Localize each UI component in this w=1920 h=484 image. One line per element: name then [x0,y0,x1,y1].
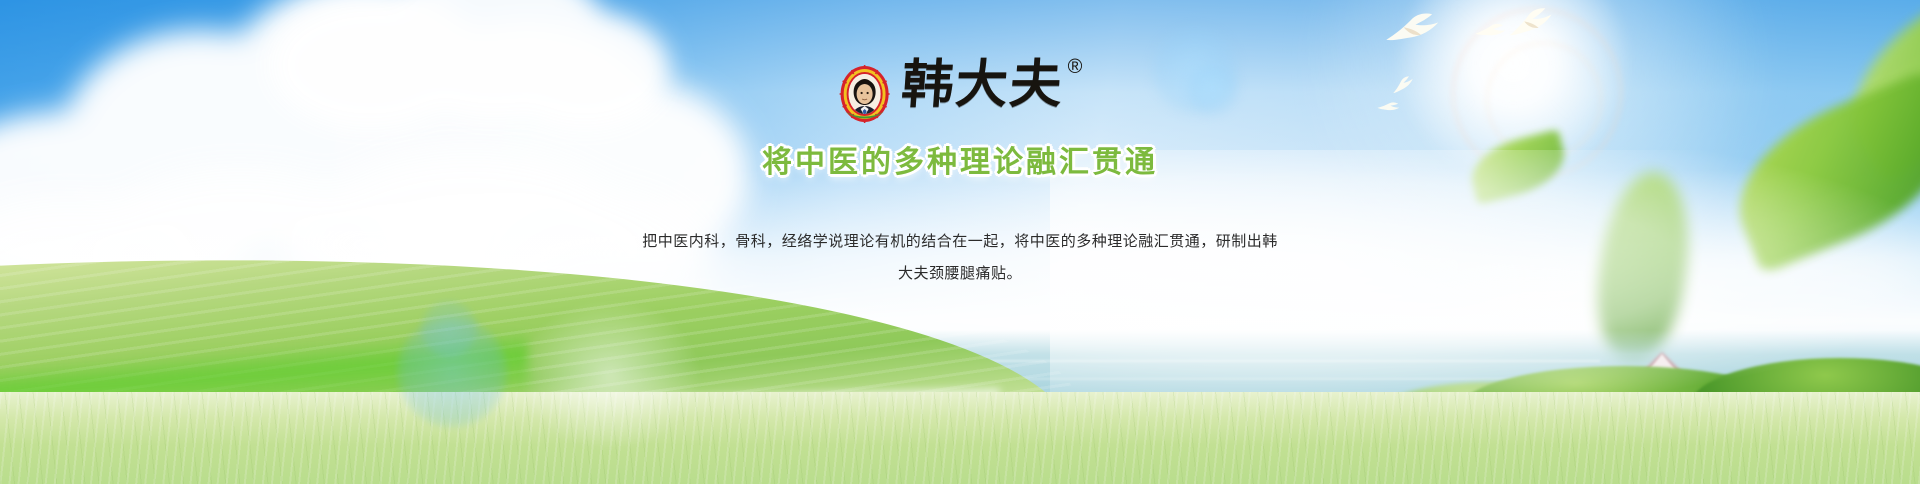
brand-name-text: 韩大夫 [900,60,1066,112]
banner-content: 韩大夫 ® 将中医的多种理论融汇贯通 把中医内科，骨科，经络学说理论有机的结合在… [0,0,1920,484]
registered-trademark-icon: ® [1068,56,1083,79]
brand-logo[interactable]: 韩大夫 ® [838,60,1083,126]
headline-title: 将中医的多种理论融汇贯通 [0,137,1920,181]
hero-banner: 韩大夫 ® 将中医的多种理论融汇贯通 把中医内科，骨科，经络学说理论有机的结合在… [0,0,1920,484]
doctor-portrait-emblem-icon [838,64,892,126]
description-paragraph: 把中医内科，骨科，经络学说理论有机的结合在一起，将中医的多种理论融汇贯通，研制出… [640,226,1280,290]
